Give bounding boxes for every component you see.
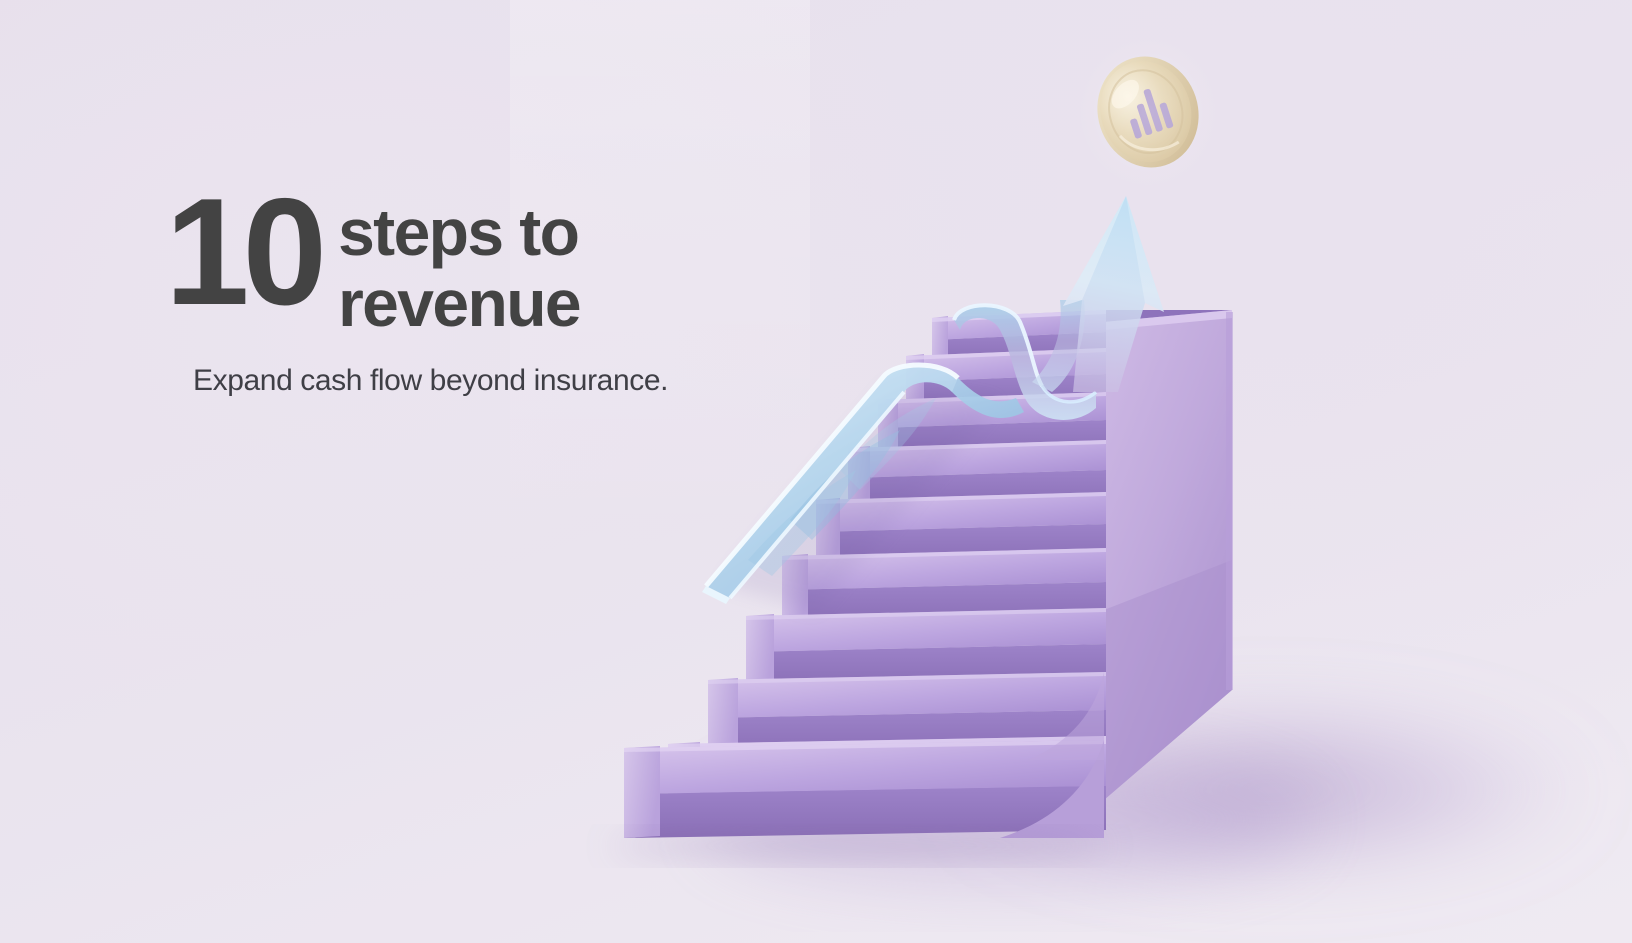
hero-banner: 10 steps to revenue Expand cash flow bey… xyxy=(0,0,1632,943)
headline-lines: steps to revenue xyxy=(338,197,580,338)
copy-block: 10 steps to revenue Expand cash flow bey… xyxy=(165,183,865,398)
staircase-side-wall xyxy=(1104,310,1233,800)
illustration-staircase xyxy=(0,0,1632,943)
step-2 xyxy=(668,736,1106,826)
stair-wall-fillet xyxy=(1000,672,1104,838)
coin-bar-chart-glyph xyxy=(1122,85,1174,139)
step-6 xyxy=(816,492,1106,564)
subtitle: Expand cash flow beyond insurance. xyxy=(193,364,865,398)
step-4 xyxy=(746,608,1106,688)
step-7 xyxy=(848,440,1106,508)
floor-shadow xyxy=(710,695,1600,885)
revenue-coin xyxy=(1083,43,1213,180)
step-10 xyxy=(932,310,1106,364)
step-5 xyxy=(782,548,1106,624)
headline-line-2: revenue xyxy=(338,268,580,339)
headline: 10 steps to revenue xyxy=(165,183,865,338)
step-contact-shadows xyxy=(610,834,1110,858)
step-1 xyxy=(624,740,1106,838)
step-3 xyxy=(708,672,1106,756)
step-9 xyxy=(906,348,1106,408)
glass-slide xyxy=(702,365,1024,612)
growth-arrow xyxy=(1063,196,1164,392)
headline-line-1: steps to xyxy=(338,197,580,268)
headline-number: 10 xyxy=(165,183,320,323)
glass-ribbon-upper xyxy=(954,300,1096,420)
step-8 xyxy=(878,392,1106,456)
